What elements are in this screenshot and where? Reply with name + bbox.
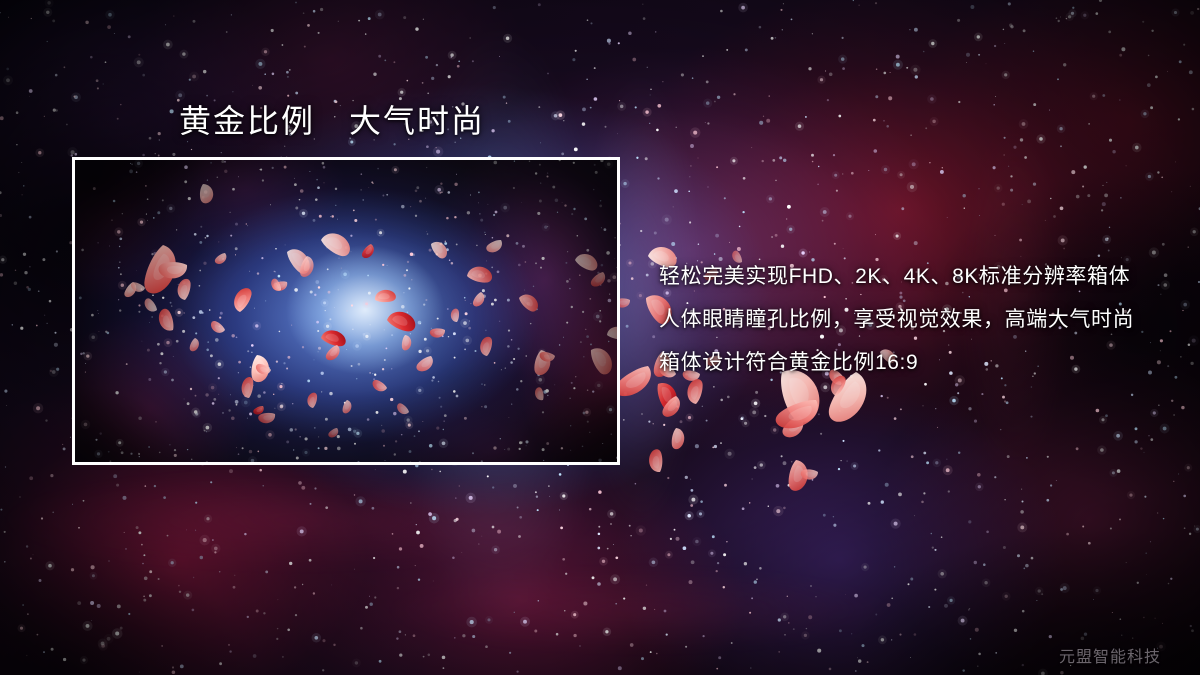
slide-canvas: 黄金比例 大气时尚 轻松完美实现FHD、2K、4K、8K标准分辨率箱体 人体眼睛…	[0, 0, 1200, 675]
body-line-2: 人体眼睛瞳孔比例，享受视觉效果，高端大气时尚	[659, 298, 1179, 341]
body-text-block: 轻松完美实现FHD、2K、4K、8K标准分辨率箱体 人体眼睛瞳孔比例，享受视觉效…	[659, 255, 1179, 384]
page-title: 黄金比例 大气时尚	[179, 101, 485, 141]
flower-petal-icon	[669, 427, 686, 450]
panel-vignette	[75, 160, 617, 462]
watermark-label: 元盟智能科技	[1059, 648, 1161, 668]
panel-image-content	[75, 160, 617, 462]
body-line-3: 箱体设计符合黄金比例16:9	[659, 341, 1179, 384]
flower-petal-icon	[648, 449, 663, 473]
framed-image-panel	[72, 157, 620, 465]
body-line-1: 轻松完美实现FHD、2K、4K、8K标准分辨率箱体	[659, 255, 1179, 298]
